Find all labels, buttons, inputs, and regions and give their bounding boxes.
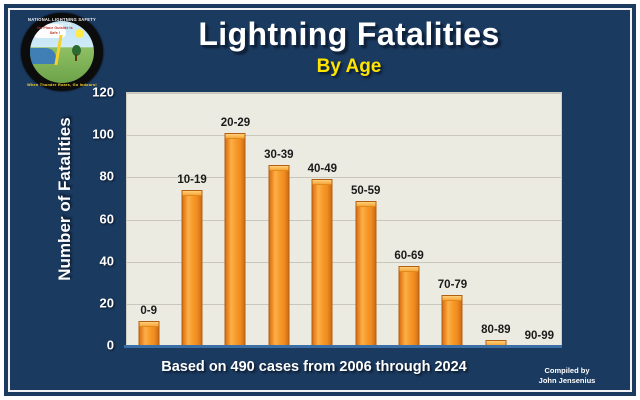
y-axis-tick-labels: 020406080100120 [64,92,120,345]
bar-slot-60-69: 60-69 [387,93,430,346]
bar-slot-50-59: 50-59 [344,93,387,346]
credit-block: Compiled by John Jensenius [512,366,622,386]
credit-line-1: Compiled by [512,366,622,376]
chart-poster: NATIONAL LIGHTNING SAFETY COUNCIL No Pla… [0,0,640,400]
bar-60-69[interactable] [399,266,420,346]
bar-10-19[interactable] [182,190,203,346]
bar-highlight-cap [139,322,158,327]
bar-category-label-30-39: 30-39 [264,149,293,161]
logo-center-text: No Place Outside is Safe ! [35,26,75,35]
bar-category-label-0-9: 0-9 [140,305,157,317]
chart-subtitle: By Age [114,56,584,78]
organization-logo: NATIONAL LIGHTNING SAFETY COUNCIL No Pla… [21,13,103,91]
y-tick-label-40: 40 [100,253,114,268]
bar-category-label-70-79: 70-79 [438,279,467,291]
y-tick-label-60: 60 [100,211,114,226]
tree-icon [70,45,82,61]
bar-category-label-40-49: 40-49 [308,163,337,175]
bar-0-9[interactable] [138,321,159,346]
bar-category-label-10-19: 10-19 [177,174,206,186]
bar-slot-10-19: 10-19 [170,93,213,346]
logo-arc-bottom-text: When Thunder Roars, Go Indoors! [21,83,103,87]
x-axis-baseline [124,345,562,348]
chart-title: Lightning Fatalities [114,16,584,53]
y-tick-label-0: 0 [107,338,114,353]
bar-highlight-cap [313,180,332,185]
bar-category-label-80-89: 80-89 [481,324,510,336]
bar-category-label-20-29: 20-29 [221,117,250,129]
bar-highlight-cap [356,202,375,207]
bar-highlight-cap [443,296,462,301]
bar-20-29[interactable] [225,133,246,346]
bar-series: 0-910-1920-2930-3940-4950-5960-6970-7980… [127,93,561,346]
bar-highlight-cap [226,134,245,139]
bar-slot-30-39: 30-39 [257,93,300,346]
bar-category-label-60-69: 60-69 [394,250,423,262]
bar-highlight-cap [269,166,288,171]
y-tick-label-20: 20 [100,295,114,310]
bar-slot-40-49: 40-49 [301,93,344,346]
bar-slot-70-79: 70-79 [431,93,474,346]
bar-70-79[interactable] [442,295,463,346]
y-tick-label-120: 120 [92,85,114,100]
y-tick-label-100: 100 [92,127,114,142]
credit-line-2: John Jensenius [512,376,622,386]
bar-30-39[interactable] [268,165,289,346]
source-caption: Based on 490 cases from 2006 through 202… [64,359,564,375]
sun-icon [75,29,84,38]
bar-50-59[interactable] [355,201,376,346]
bar-slot-90-99: 90-99 [518,93,561,346]
bar-slot-20-29: 20-29 [214,93,257,346]
water-shape [30,48,56,64]
y-tick-label-80: 80 [100,169,114,184]
bar-highlight-cap [400,267,419,272]
bar-category-label-90-99: 90-99 [525,330,554,342]
bar-category-label-50-59: 50-59 [351,185,380,197]
plot-area: 0-910-1920-2930-3940-4950-5960-6970-7980… [126,92,562,347]
bar-slot-80-89: 80-89 [474,93,517,346]
bar-highlight-cap [183,191,202,196]
bar-slot-0-9: 0-9 [127,93,170,346]
bar-40-49[interactable] [312,179,333,346]
